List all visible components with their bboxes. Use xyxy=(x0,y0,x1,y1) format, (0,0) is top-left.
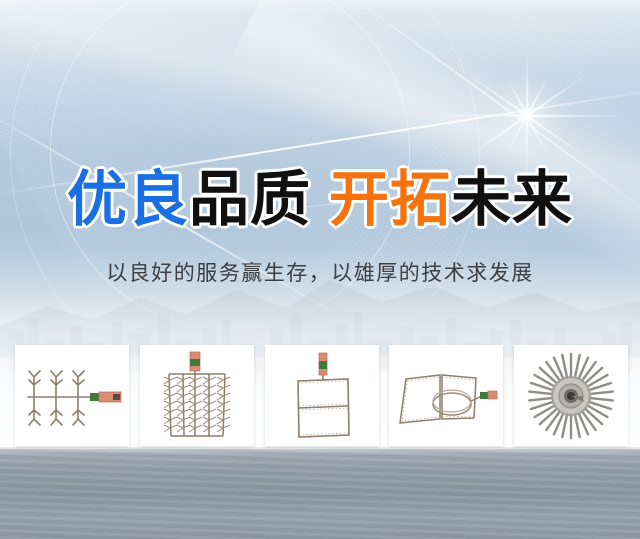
page-title: 优良品质开拓未来 xyxy=(0,168,640,232)
headline-segment-3: 开拓 xyxy=(329,165,451,235)
flare-spike-icon xyxy=(526,54,528,116)
flare-glow-icon xyxy=(482,70,572,160)
concrete-ground xyxy=(0,447,640,539)
heating-element-flat-coil-icon xyxy=(394,363,498,429)
product-card[interactable] xyxy=(514,345,628,446)
page-subtitle: 以良好的服务赢生存，以雄厚的技术求发展 xyxy=(0,259,640,287)
heating-element-comb-icon xyxy=(20,357,124,435)
flare-spike-icon xyxy=(527,74,587,117)
product-card[interactable] xyxy=(389,345,503,446)
flare-spike-icon xyxy=(468,74,528,117)
product-card[interactable] xyxy=(265,345,379,446)
flare-core-icon xyxy=(518,106,536,124)
flare-spike-icon xyxy=(527,115,623,117)
flare-spike-icon xyxy=(431,115,527,117)
headline-segment-4: 未来 xyxy=(451,165,573,235)
promotional-banner: 优良品质开拓未来 以良好的服务赢生存，以雄厚的技术求发展 xyxy=(0,0,640,539)
flare-spike-icon xyxy=(506,115,528,155)
product-card[interactable] xyxy=(15,345,129,446)
flare-spike-icon xyxy=(526,77,548,117)
headline-segment-1: 优良 xyxy=(67,165,189,235)
heating-element-panel-icon xyxy=(286,351,358,441)
headline-segment-2: 品质 xyxy=(189,165,311,235)
heating-element-radial-fan-icon xyxy=(524,352,618,440)
light-ray-band-icon xyxy=(0,0,640,296)
product-card[interactable] xyxy=(140,345,254,446)
flare-spike-icon xyxy=(526,115,548,155)
flare-spike-icon xyxy=(527,115,587,158)
flare-spike-icon xyxy=(468,115,528,158)
ground-horizon-line xyxy=(0,447,640,449)
flare-spike-icon xyxy=(506,77,528,117)
product-card-row xyxy=(15,345,628,446)
heating-element-cage-icon xyxy=(159,350,235,442)
